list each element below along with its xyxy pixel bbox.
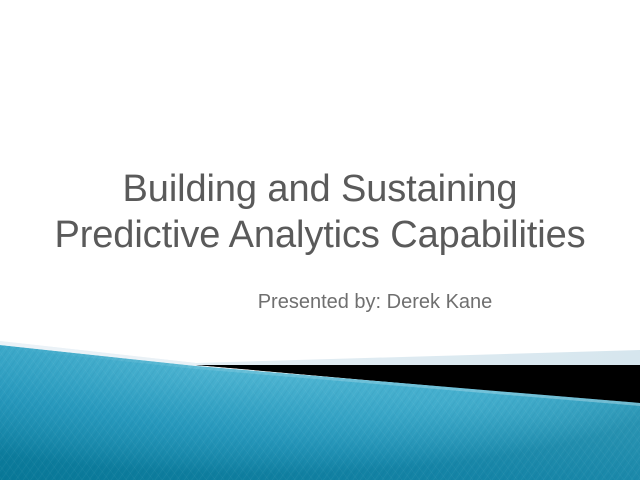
blue-banner-shape	[0, 330, 640, 480]
left-sliver-shape	[0, 341, 196, 366]
black-wedge-body	[196, 365, 640, 404]
subtitle-text: Presented by: Derek Kane	[258, 289, 493, 315]
title-line-1: Building and Sustaining	[0, 166, 640, 212]
slide-canvas: Building and Sustaining Predictive Analy…	[0, 0, 640, 480]
black-wedge-shape	[196, 365, 640, 404]
title-line-2: Predictive Analytics Capabilities	[0, 212, 640, 258]
pale-band-shape	[0, 341, 640, 366]
blue-edge-highlight	[0, 345, 640, 406]
slide-title: Building and Sustaining Predictive Analy…	[0, 166, 640, 258]
slide-subtitle: Presented by: Derek Kane	[0, 289, 640, 315]
